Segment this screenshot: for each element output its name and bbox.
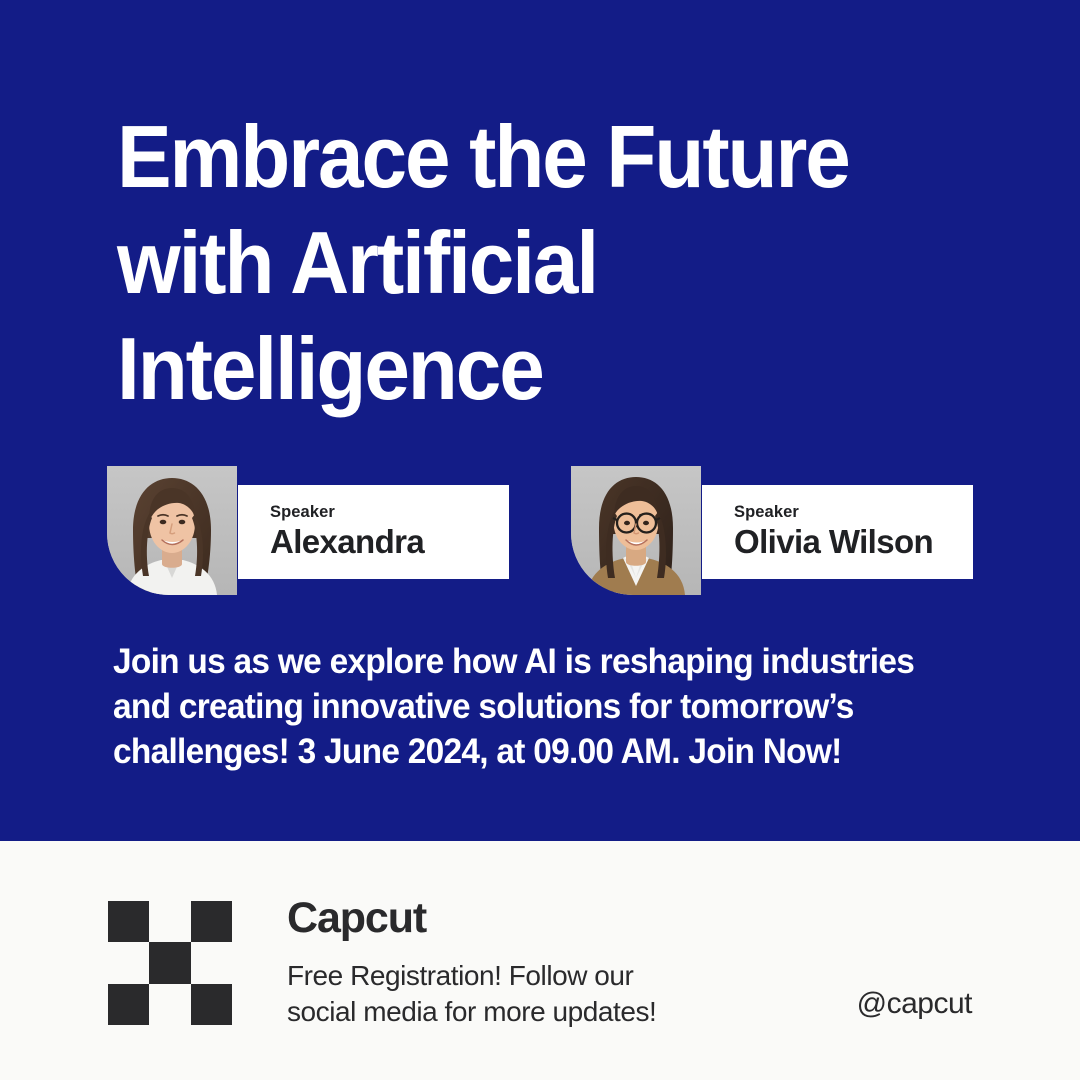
speaker-list: Speaker Alexandra <box>0 466 1080 598</box>
social-handle[interactable]: @capcut <box>857 986 972 1022</box>
speaker-role-label: Speaker <box>734 503 973 522</box>
speaker-name: Alexandra <box>270 523 509 561</box>
tagline-line-1: Free Registration! Follow our <box>287 958 757 994</box>
logo-cell-5 <box>191 942 232 983</box>
event-description: Join us as we explore how AI is reshapin… <box>113 639 1013 774</box>
speaker-name: Olivia Wilson <box>734 523 973 561</box>
body-line-2: and creating innovative solutions for to… <box>113 684 973 729</box>
headline-line-2: with Artificial <box>117 210 954 316</box>
logo-cell-3 <box>108 942 149 983</box>
brand-block: Capcut Free Registration! Follow our soc… <box>287 893 757 1030</box>
logo-cell-0 <box>108 901 149 942</box>
brand-tagline: Free Registration! Follow our social med… <box>287 958 757 1030</box>
logo-cell-8 <box>191 984 232 1025</box>
speaker-label-card: Speaker Alexandra <box>238 485 509 579</box>
hero-panel: Embrace the Future with Artificial Intel… <box>0 0 1080 841</box>
speaker-portrait-olivia-wilson <box>571 466 701 595</box>
tagline-line-2: social media for more updates! <box>287 994 757 1030</box>
page-title: Embrace the Future with Artificial Intel… <box>117 104 1017 422</box>
headline-line-3: Intelligence <box>117 316 954 422</box>
body-line-3: challenges! 3 June 2024, at 09.00 AM. Jo… <box>113 729 973 774</box>
logo-cell-6 <box>108 984 149 1025</box>
speaker-portrait-alexandra <box>107 466 237 595</box>
footer-bar: Capcut Free Registration! Follow our soc… <box>0 841 1080 1080</box>
speaker-label-card: Speaker Olivia Wilson <box>702 485 973 579</box>
body-line-1: Join us as we explore how AI is reshapin… <box>113 639 973 684</box>
speaker-card-olivia-wilson[interactable]: Speaker Olivia Wilson <box>571 466 973 598</box>
speaker-card-alexandra[interactable]: Speaker Alexandra <box>107 466 509 598</box>
speaker-role-label: Speaker <box>270 503 509 522</box>
capcut-checkerboard-logo <box>108 901 232 1025</box>
headline-line-1: Embrace the Future <box>117 104 954 210</box>
logo-cell-4 <box>149 942 190 983</box>
brand-name: Capcut <box>287 893 757 943</box>
logo-cell-1 <box>149 901 190 942</box>
logo-cell-7 <box>149 984 190 1025</box>
logo-cell-2 <box>191 901 232 942</box>
event-poster: Embrace the Future with Artificial Intel… <box>0 0 1080 1080</box>
